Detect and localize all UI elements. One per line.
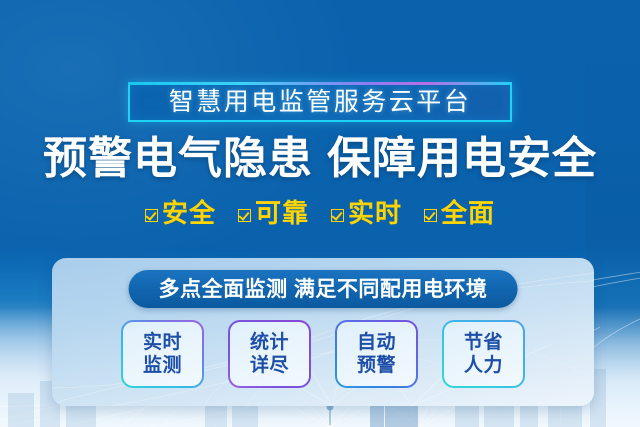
poster-root: 智慧用电监管服务云平台 预警电气隐患保障用电安全 安全 可靠 实时 全面 [0,0,640,427]
card-inner: 节省 人力 [444,322,523,386]
card-inner: 自动 预警 [337,322,416,386]
platform-title-chip: 智慧用电监管服务云平台 [128,82,512,122]
checkbox-checked-icon [424,209,437,222]
feature-label-3: 全面 [441,200,495,226]
card-0-line-2: 监测 [143,355,182,376]
feature-label-2: 实时 [348,200,402,226]
page-title: 预警电气隐患保障用电安全 [0,136,640,182]
feature-item-0: 安全 [145,200,216,226]
feature-card-list: 实时 监测 统计 详尽 自动 预警 节省 人力 [52,320,594,388]
feature-check-row: 安全 可靠 实时 全面 [0,200,640,226]
feature-card-save-manpower[interactable]: 节省 人力 [442,320,525,388]
card-1-line-1: 统计 [250,332,289,353]
checkbox-checked-icon [238,209,251,222]
platform-title-text: 智慧用电监管服务云平台 [169,90,472,115]
feature-item-1: 可靠 [238,200,309,226]
feature-card-automatic-alert[interactable]: 自动 预警 [335,320,418,388]
card-inner: 统计 详尽 [230,322,309,386]
feature-card-detailed-statistics[interactable]: 统计 详尽 [228,320,311,388]
headline-part-2: 保障用电安全 [327,134,597,183]
checkbox-checked-icon [331,209,344,222]
card-3-line-1: 节省 [464,332,503,353]
feature-item-2: 实时 [331,200,402,226]
card-inner: 实时 监测 [123,322,202,386]
feature-label-0: 安全 [162,200,216,226]
banner-text: 多点全面监测 满足不同配用电环境 [159,279,488,300]
card-1-line-2: 详尽 [250,355,289,376]
card-2-line-2: 预警 [357,355,396,376]
checkbox-checked-icon [145,209,158,222]
card-2-line-1: 自动 [357,332,396,353]
feature-item-3: 全面 [424,200,495,226]
features-panel: 多点全面监测 满足不同配用电环境 实时 监测 统计 详尽 自动 预警 [52,258,594,406]
feature-label-1: 可靠 [255,200,309,226]
card-3-line-2: 人力 [464,355,503,376]
card-0-line-1: 实时 [143,332,182,353]
banner-pill: 多点全面监测 满足不同配用电环境 [129,270,518,308]
feature-card-realtime-monitoring[interactable]: 实时 监测 [121,320,204,388]
headline-part-1: 预警电气隐患 [43,134,313,183]
